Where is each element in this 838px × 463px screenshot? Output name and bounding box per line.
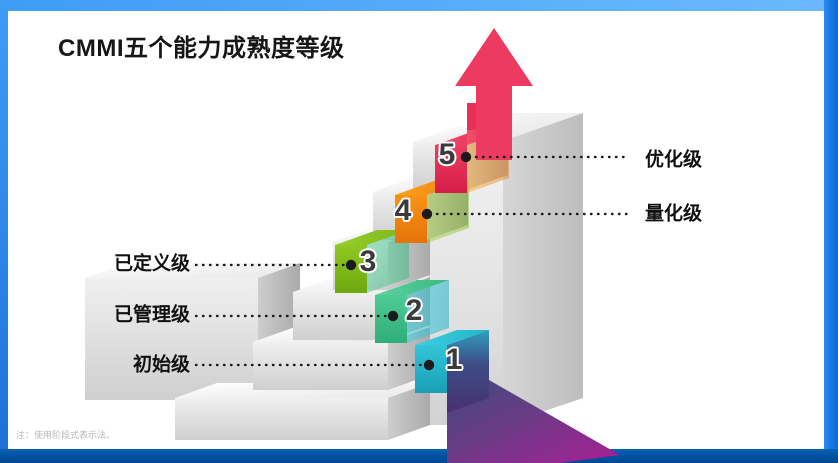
footnote-text: 注：使用阶段式表示法。 (16, 428, 115, 441)
step-number-1: 1 (446, 343, 463, 377)
level-label-quantitative: 量化级 (645, 199, 702, 226)
level-label-initial: 初始级 (133, 350, 190, 377)
level-label-defined: 已定义级 (114, 249, 190, 276)
step-number-2: 2 (406, 294, 423, 328)
maturity-staircase-diagram (0, 0, 838, 463)
slide-canvas: CMMI五个能力成熟度等级 (0, 0, 838, 463)
step-number-5: 5 (439, 138, 456, 172)
connector-dot-2 (388, 311, 398, 321)
connector-dot-4 (422, 209, 432, 219)
connector-dot-3 (346, 260, 356, 270)
level-label-optimizing: 优化级 (645, 145, 702, 172)
connector-dot-5 (461, 152, 471, 162)
step-number-4: 4 (395, 194, 412, 228)
level-label-managed: 已管理级 (114, 300, 190, 327)
step-number-3: 3 (360, 245, 377, 279)
connector-dot-1 (424, 360, 434, 370)
base-front-step (175, 383, 430, 440)
